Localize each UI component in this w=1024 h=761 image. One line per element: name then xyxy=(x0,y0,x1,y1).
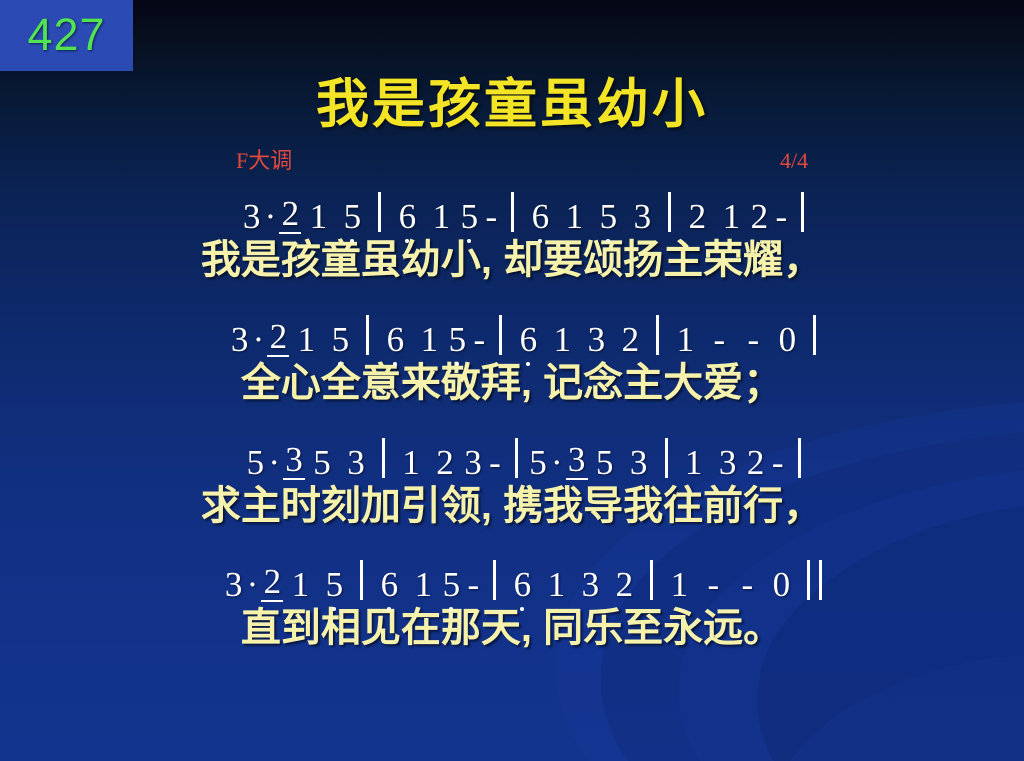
sustain-dash: - xyxy=(702,322,736,357)
augmentation-dot: · xyxy=(245,567,262,602)
note-token: 3 xyxy=(241,199,263,234)
barline xyxy=(665,438,668,478)
note-token: 3 xyxy=(573,567,607,602)
measure: 1--0 xyxy=(668,322,804,357)
note-token: 2 xyxy=(428,445,462,480)
hymn-number-badge: 427 xyxy=(0,0,133,71)
note-token: 5 xyxy=(527,445,549,480)
augmentation-dot: · xyxy=(549,445,566,480)
lyric-line: 我是孩童虽幼小, 却要颂扬主荣耀， xyxy=(0,236,1024,285)
note-token: 1 xyxy=(545,322,579,357)
note-token: 5 xyxy=(244,445,266,480)
measure: 6132 xyxy=(505,567,641,602)
notation-line: 3·215615-6153212- xyxy=(0,186,1024,234)
barline xyxy=(801,192,804,232)
note-token: 1 xyxy=(662,567,696,602)
sustain-dash: - xyxy=(468,322,490,357)
note-token: 0 xyxy=(764,567,798,602)
note-token: 6 xyxy=(378,322,412,357)
barline xyxy=(813,315,816,355)
measure: 3·215 xyxy=(223,564,352,602)
note-token: 1 xyxy=(668,322,702,357)
measure: 1--0 xyxy=(662,567,798,602)
note-token: 1 xyxy=(677,445,711,480)
measure: 5·353 xyxy=(244,442,373,480)
measure: 3·215 xyxy=(229,319,358,357)
note-token: 6 xyxy=(390,199,424,234)
note-token: 3 xyxy=(283,442,305,480)
barline xyxy=(511,192,514,232)
note-token: 3 xyxy=(566,442,588,480)
note-token: 3 xyxy=(622,445,656,480)
augmentation-dot: · xyxy=(251,322,268,357)
note-token: 1 xyxy=(412,322,446,357)
measure: 615- xyxy=(378,322,490,357)
note-token: 1 xyxy=(424,199,458,234)
barline xyxy=(360,560,363,600)
barline xyxy=(656,315,659,355)
note-token: 2 xyxy=(745,445,767,480)
measure: 3·215 xyxy=(241,196,370,234)
key-signature-label: F大调 xyxy=(236,150,292,172)
note-token: 3 xyxy=(462,445,484,480)
measure: 615- xyxy=(390,199,502,234)
note-token: 5 xyxy=(317,567,351,602)
note-token: 2 xyxy=(261,564,283,602)
note-token: 6 xyxy=(372,567,406,602)
measure: 212- xyxy=(680,199,792,234)
note-token: 1 xyxy=(301,199,335,234)
sustain-dash: - xyxy=(736,322,770,357)
note-token: 5 xyxy=(323,322,357,357)
note-token: 5 xyxy=(305,445,339,480)
sustain-dash: - xyxy=(730,567,764,602)
note-token: 2 xyxy=(748,199,770,234)
sustain-dash: - xyxy=(480,199,502,234)
note-token: 1 xyxy=(394,445,428,480)
measure: 132- xyxy=(677,445,789,480)
barline xyxy=(515,438,518,478)
barline xyxy=(668,192,671,232)
note-token: 3 xyxy=(223,567,245,602)
note-token: 2 xyxy=(607,567,641,602)
note-token: 1 xyxy=(283,567,317,602)
sustain-dash: - xyxy=(696,567,730,602)
lyric-line: 直到相见在那天, 同乐至永远。 xyxy=(0,604,1024,653)
lyric-line: 求主时刻加引领, 携我导我往前行， xyxy=(0,482,1024,531)
barline xyxy=(366,315,369,355)
note-token: 3 xyxy=(579,322,613,357)
stanza: 3·215615-6153212-我是孩童虽幼小, 却要颂扬主荣耀， xyxy=(0,186,1024,285)
note-token: 6 xyxy=(523,199,557,234)
sustain-dash: - xyxy=(770,199,792,234)
note-token: 0 xyxy=(770,322,804,357)
note-token: 1 xyxy=(289,322,323,357)
measure: 6153 xyxy=(523,199,659,234)
barline xyxy=(378,192,381,232)
stanza: 3·215615-61321--0全心全意来敬拜, 记念主大爱； xyxy=(0,309,1024,408)
barline xyxy=(493,560,496,600)
note-token: 6 xyxy=(511,322,545,357)
note-token: 5 xyxy=(588,445,622,480)
stanza: 3·215615-61321--0直到相见在那天, 同乐至永远。 xyxy=(0,554,1024,653)
measure: 5·353 xyxy=(527,442,656,480)
note-token: 2 xyxy=(680,199,714,234)
measure: 615- xyxy=(372,567,484,602)
hymn-slide: 427 我是孩童虽幼小 F大调 4/4 3·215615-6153212-我是孩… xyxy=(0,0,1024,761)
note-token: 5 xyxy=(335,199,369,234)
note-token: 1 xyxy=(406,567,440,602)
barline xyxy=(650,560,653,600)
note-token: 1 xyxy=(539,567,573,602)
notation-line: 3·215615-61321--0 xyxy=(0,309,1024,357)
score-body: 3·215615-6153212-我是孩童虽幼小, 却要颂扬主荣耀，3·2156… xyxy=(0,186,1024,677)
barline xyxy=(798,438,801,478)
note-token: 5 xyxy=(440,567,462,602)
sustain-dash: - xyxy=(462,567,484,602)
hymn-number-text: 427 xyxy=(27,12,105,60)
note-token: 3 xyxy=(229,322,251,357)
note-token: 5 xyxy=(446,322,468,357)
augmentation-dot: · xyxy=(266,445,283,480)
notation-line: 3·215615-61321--0 xyxy=(0,554,1024,602)
barline xyxy=(382,438,385,478)
note-token: 2 xyxy=(267,319,289,357)
sustain-dash: - xyxy=(767,445,789,480)
sustain-dash: - xyxy=(484,445,506,480)
final-barline xyxy=(807,560,822,600)
measure: 123- xyxy=(394,445,506,480)
note-token: 3 xyxy=(339,445,373,480)
stanza: 5·353123-5·353132-求主时刻加引领, 携我导我往前行， xyxy=(0,432,1024,531)
note-token: 3 xyxy=(711,445,745,480)
note-token: 1 xyxy=(557,199,591,234)
note-token: 2 xyxy=(279,196,301,234)
notation-line: 5·353123-5·353132- xyxy=(0,432,1024,480)
note-token: 5 xyxy=(458,199,480,234)
barline xyxy=(499,315,502,355)
time-signature-label: 4/4 xyxy=(780,150,808,172)
note-token: 1 xyxy=(714,199,748,234)
augmentation-dot: · xyxy=(263,199,280,234)
hymn-title: 我是孩童虽幼小 xyxy=(0,62,1024,138)
note-token: 5 xyxy=(591,199,625,234)
note-token: 2 xyxy=(613,322,647,357)
lyric-line: 全心全意来敬拜, 记念主大爱； xyxy=(0,359,1024,408)
score-meta-row: F大调 4/4 xyxy=(236,150,836,178)
note-token: 3 xyxy=(625,199,659,234)
note-token: 6 xyxy=(505,567,539,602)
measure: 6132 xyxy=(511,322,647,357)
